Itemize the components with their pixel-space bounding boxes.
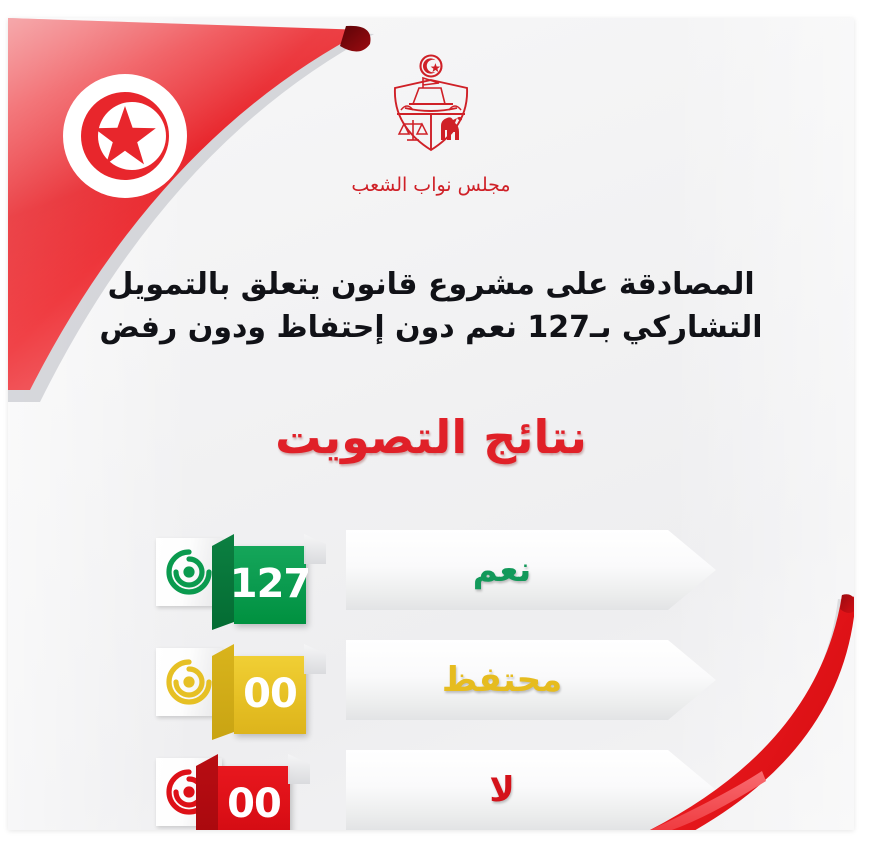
poster-card: مجلس نواب الشعب المصادقة على مشروع قانون… [8,18,854,830]
vote-result-row-abstain: 00 محتفظ [156,634,716,726]
vote-label-text: محتفظ [442,660,562,700]
vote-count-badge-abstain: 00 [234,656,306,734]
assembly-emblem-block: مجلس نواب الشعب [8,52,854,196]
vote-result-row-no: 00 لا [156,744,716,830]
tunisia-coat-of-arms-icon [379,52,483,170]
assembly-name-caption: مجلس نواب الشعب [351,174,510,196]
vote-results-list: 127 نعم 00 محتفظ [8,518,854,830]
vote-count-badge-no: 00 [218,766,290,830]
vote-label-text: نعم [473,550,532,590]
target-spiral-icon [164,658,214,706]
vote-label-bar-abstain: محتفظ [346,640,716,720]
vote-result-row-yes: 127 نعم [156,524,716,616]
page-title: نتائج التصويت [8,410,854,464]
vote-count-value: 00 [227,784,281,824]
target-spiral-icon [164,548,214,596]
vote-label-text: لا [489,770,514,810]
vote-label-bar-yes: نعم [346,530,716,610]
vote-count-badge-yes: 127 [234,546,306,624]
vote-label-bar-no: لا [346,750,716,830]
vote-count-value: 127 [230,564,311,604]
headline-text: المصادقة على مشروع قانون يتعلق بالتمويل … [48,264,814,349]
vote-count-value: 00 [243,674,297,714]
